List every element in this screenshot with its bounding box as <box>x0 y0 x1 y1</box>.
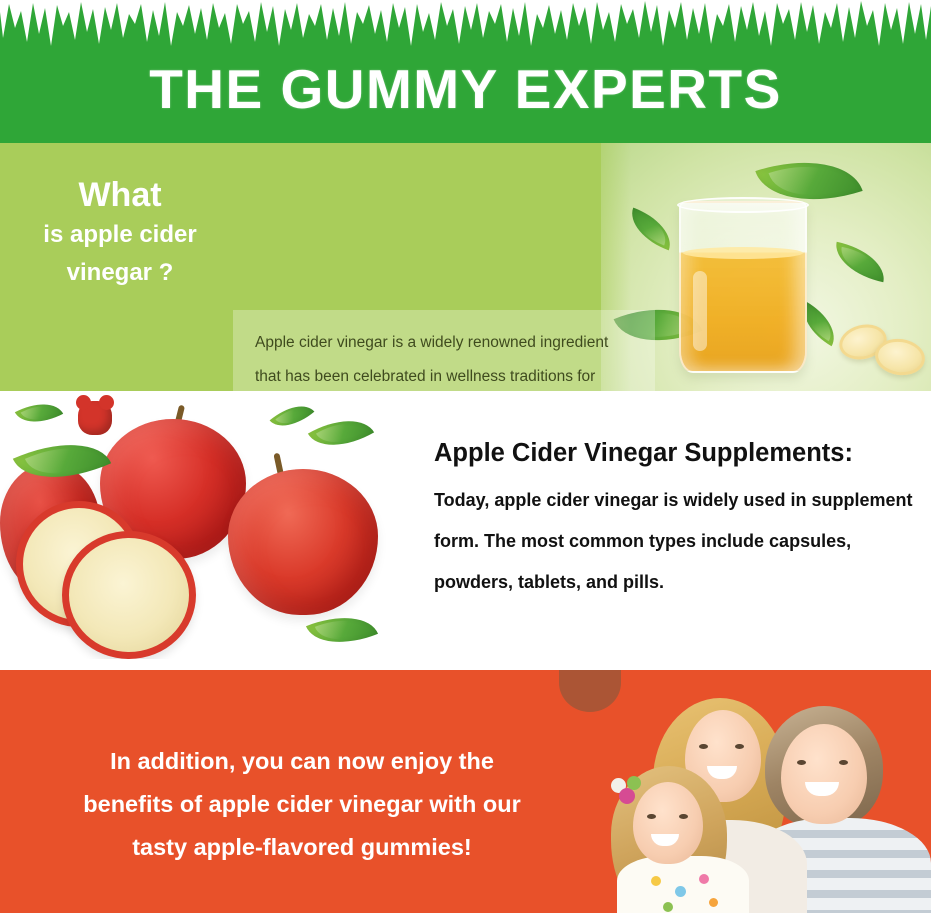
supplements-title: Apple Cider Vinegar Supplements: <box>434 439 924 468</box>
leaf-icon <box>308 405 374 462</box>
father-beard <box>559 670 621 712</box>
question-heading: What is apple cider vinegar ? <box>14 175 226 291</box>
leaf-icon <box>270 395 315 438</box>
question-primary: What <box>14 175 226 215</box>
section-what-is-acv: What is apple cider vinegar ? Apple cide… <box>0 143 931 391</box>
gummies-text-block: In addition, you can now enjoy the benef… <box>28 740 576 869</box>
leaf-icon <box>830 242 889 283</box>
father-face <box>781 724 867 824</box>
leaf-icon <box>15 393 63 434</box>
section-gummies: In addition, you can now enjoy the benef… <box>0 670 931 913</box>
section-supplements: Apple Cider Vinegar Supplements: Today, … <box>0 391 931 670</box>
header-banner: THE GUMMY EXPERTS <box>0 0 931 143</box>
infographic-page: THE GUMMY EXPERTS What is apple cider vi… <box>0 0 931 913</box>
supplements-text-block: Apple Cider Vinegar Supplements: Today, … <box>434 439 924 603</box>
flower-hairpin-icon <box>611 774 645 804</box>
page-title: THE GUMMY EXPERTS <box>0 57 931 121</box>
grass-border-icon <box>0 0 931 52</box>
gummies-line-1: In addition, you can now enjoy the <box>28 740 576 783</box>
question-secondary-line1: is apple cider <box>14 217 226 253</box>
leaf-icon <box>624 208 679 251</box>
what-is-acv-text-panel: Apple cider vinegar is a widely renowned… <box>233 310 655 391</box>
apple-icon <box>228 469 378 615</box>
family-photo <box>559 670 931 913</box>
question-secondary-line2: vinegar ? <box>14 255 226 291</box>
vinegar-glass-icon <box>679 201 807 373</box>
section-divider <box>0 659 931 670</box>
supplements-body-text: Today, apple cider vinegar is widely use… <box>434 480 924 603</box>
gummies-line-2: benefits of apple cider vinegar with our <box>28 783 576 826</box>
girl-dress <box>617 856 749 913</box>
red-gummy-icon <box>78 401 112 435</box>
apples-photo <box>0 391 400 659</box>
what-is-acv-body-text: Apple cider vinegar is a widely renowned… <box>255 326 633 391</box>
apple-half-icon <box>62 531 196 659</box>
gummies-line-3: tasty apple-flavored gummies! <box>28 826 576 869</box>
